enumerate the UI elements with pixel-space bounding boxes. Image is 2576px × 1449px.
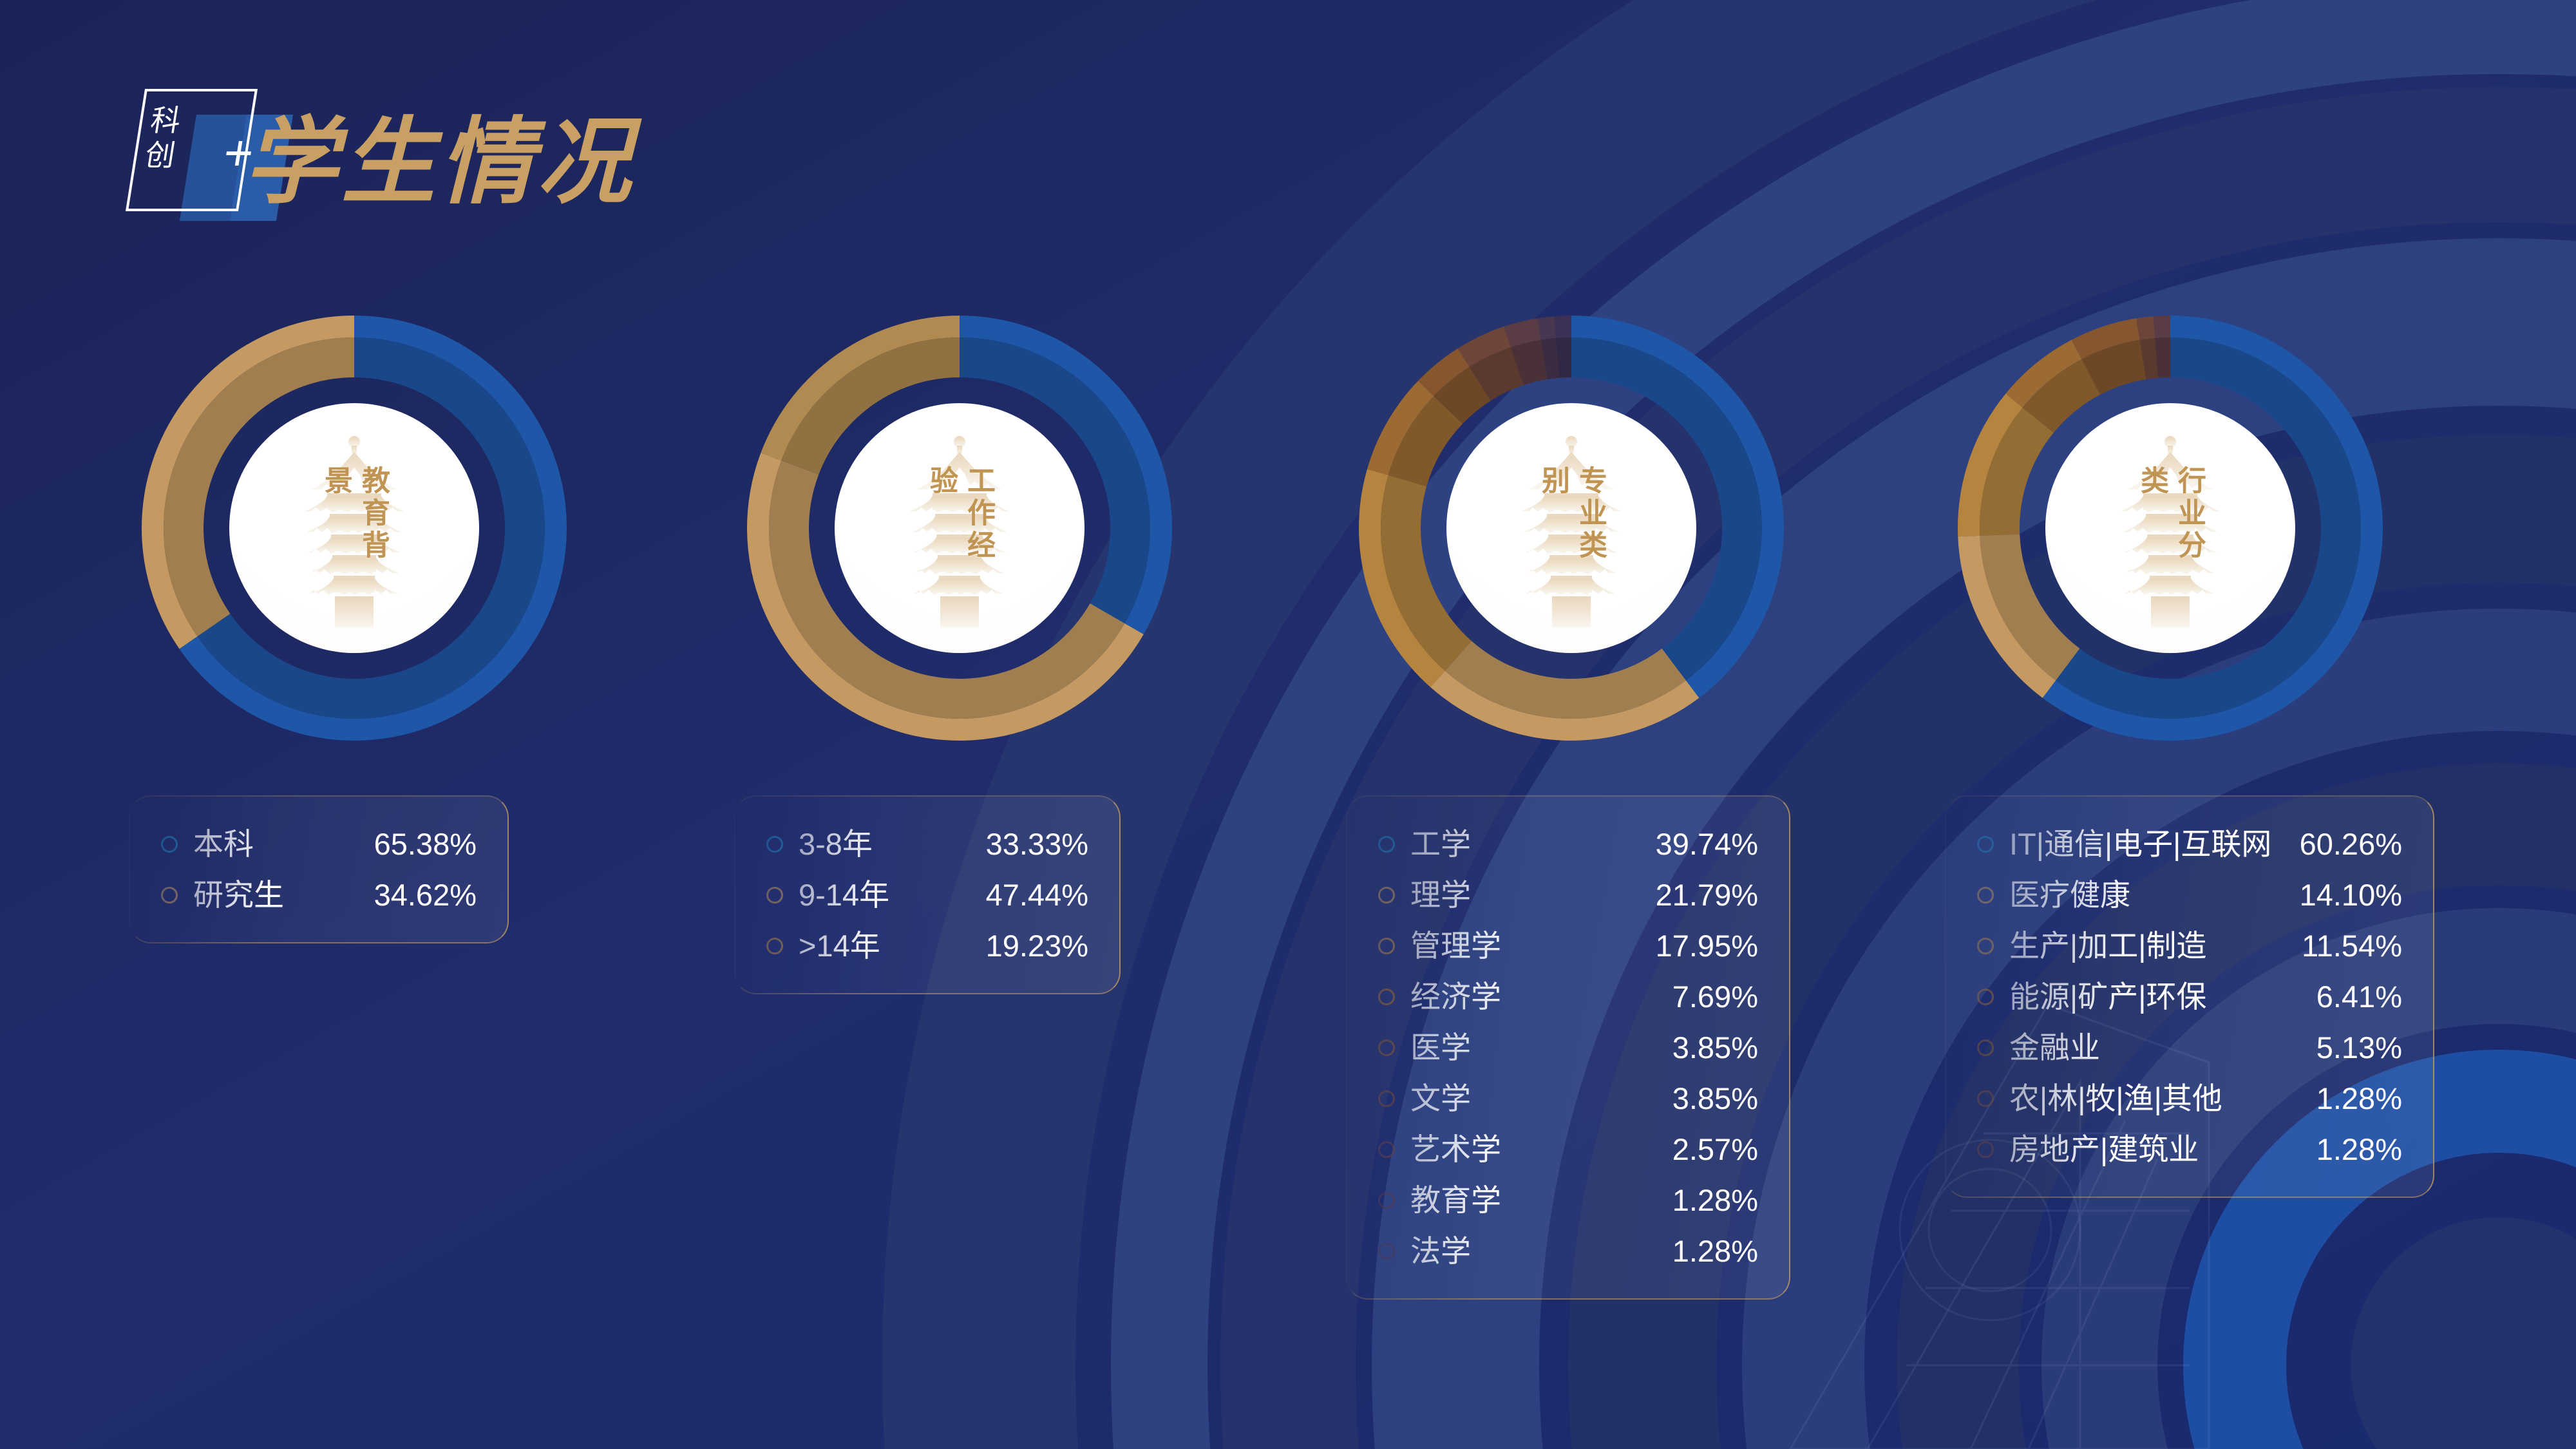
legend-row[interactable]: 房地产|建筑业1.28%: [1977, 1124, 2402, 1175]
legend-value: 34.62%: [374, 878, 477, 912]
legend-row[interactable]: >14年19.23%: [766, 920, 1088, 971]
legend-marker-circle-icon: [766, 938, 783, 954]
legend-marker-circle-icon: [1378, 1039, 1395, 1056]
chart-column-3: 专业类别: [1346, 303, 1797, 753]
legend-row[interactable]: 研究生34.62%: [161, 869, 477, 920]
donut-center-label-1: 教育背景: [317, 466, 392, 591]
legend-value: 47.44%: [986, 878, 1088, 912]
legend-marker-circle-icon: [1977, 1039, 1994, 1056]
legend-row[interactable]: 艺术学2.57%: [1378, 1124, 1758, 1175]
legend-marker-circle-icon: [1378, 887, 1395, 904]
donut-center-2: 工作经验: [835, 403, 1084, 653]
legend-marker-circle-icon: [1977, 1141, 1994, 1158]
legend-label: 经济学: [1410, 980, 1501, 1014]
chart-column-2: 工作经验: [734, 303, 1185, 753]
donut-chart-1[interactable]: 教育背景: [129, 303, 580, 753]
slide-root: 科 创 + 学生情况 教育背景本科65.38%研究生34.62%: [0, 0, 2576, 1449]
legend-row[interactable]: IT|通信|电子|互联网60.26%: [1977, 819, 2402, 869]
legend-marker-circle-icon: [766, 887, 783, 904]
legend-marker-circle-icon: [1977, 938, 1994, 954]
chart-column-4: 行业分类: [1945, 303, 2396, 753]
legend-value: 1.28%: [2316, 1133, 2402, 1166]
legend-label: 法学: [1410, 1235, 1471, 1268]
legend-card-3: 工学39.74%理学21.79%管理学17.95%经济学7.69%医学3.85%…: [1346, 795, 1790, 1300]
legend-value: 5.13%: [2316, 1031, 2402, 1065]
legend-value: 1.28%: [1672, 1184, 1758, 1217]
legend-label: 9-14年: [799, 878, 889, 912]
legend-value: 3.85%: [1672, 1031, 1758, 1065]
legend-label: 工学: [1410, 828, 1471, 861]
legend-row[interactable]: 医学3.85%: [1378, 1022, 1758, 1073]
legend-row[interactable]: 生产|加工|制造11.54%: [1977, 920, 2402, 971]
legend-marker-circle-icon: [1378, 938, 1395, 954]
legend-value: 11.54%: [2302, 929, 2402, 963]
legend-marker-circle-icon: [1378, 836, 1395, 853]
donut-center-label-4: 行业分类: [2133, 466, 2208, 591]
legend-value: 17.95%: [1656, 929, 1758, 963]
legend-label: 3-8年: [799, 828, 873, 861]
legend-label: 生产|加工|制造: [2009, 929, 2206, 963]
legend-value: 65.38%: [374, 828, 477, 861]
donut-outer-segment[interactable]: [1554, 316, 1571, 338]
legend-value: 1.28%: [1672, 1235, 1758, 1268]
legend-row[interactable]: 本科65.38%: [161, 819, 477, 869]
legend-label: 医学: [1410, 1031, 1471, 1065]
legend-marker-circle-icon: [766, 836, 783, 853]
legend-row[interactable]: 经济学7.69%: [1378, 971, 1758, 1022]
donut-center-4: 行业分类: [2045, 403, 2295, 653]
legend-label: IT|通信|电子|互联网: [2009, 828, 2271, 861]
legend-value: 39.74%: [1656, 828, 1758, 861]
legend-value: 21.79%: [1656, 878, 1758, 912]
legend-label: 医疗健康: [2009, 878, 2130, 912]
legend-marker-circle-icon: [161, 887, 178, 904]
legend-row[interactable]: 金融业5.13%: [1977, 1022, 2402, 1073]
legend-label: 文学: [1410, 1082, 1471, 1115]
legend-value: 6.41%: [2316, 980, 2402, 1014]
legend-value: 33.33%: [986, 828, 1088, 861]
legend-label: 教育学: [1410, 1184, 1501, 1217]
charts-container: 教育背景本科65.38%研究生34.62% 工作经验3-8年33.33%9-14…: [0, 0, 2576, 1449]
legend-label: 管理学: [1410, 929, 1501, 963]
donut-chart-2[interactable]: 工作经验: [734, 303, 1185, 753]
legend-row[interactable]: 医疗健康14.10%: [1977, 869, 2402, 920]
legend-value: 3.85%: [1672, 1082, 1758, 1115]
legend-card-4: IT|通信|电子|互联网60.26%医疗健康14.10%生产|加工|制造11.5…: [1945, 795, 2434, 1198]
legend-row[interactable]: 农|林|牧|渔|其他1.28%: [1977, 1073, 2402, 1124]
legend-row[interactable]: 法学1.28%: [1378, 1226, 1758, 1276]
legend-value: 2.57%: [1672, 1133, 1758, 1166]
chart-column-1: 教育背景: [129, 303, 580, 753]
legend-label: 艺术学: [1410, 1133, 1501, 1166]
legend-label: 房地产|建筑业: [2009, 1133, 2199, 1166]
donut-center-label-3: 专业类别: [1534, 466, 1609, 591]
legend-card-1: 本科65.38%研究生34.62%: [129, 795, 509, 943]
legend-marker-circle-icon: [1378, 989, 1395, 1005]
donut-chart-3[interactable]: 专业类别: [1346, 303, 1797, 753]
legend-row[interactable]: 教育学1.28%: [1378, 1175, 1758, 1226]
legend-row[interactable]: 理学21.79%: [1378, 869, 1758, 920]
legend-row[interactable]: 能源|矿产|环保6.41%: [1977, 971, 2402, 1022]
legend-marker-circle-icon: [1977, 887, 1994, 904]
legend-row[interactable]: 管理学17.95%: [1378, 920, 1758, 971]
legend-marker-circle-icon: [1378, 1192, 1395, 1209]
legend-card-2: 3-8年33.33%9-14年47.44%>14年19.23%: [734, 795, 1121, 994]
legend-label: 研究生: [193, 878, 284, 912]
donut-chart-4[interactable]: 行业分类: [1945, 303, 2396, 753]
donut-outer-segment[interactable]: [2153, 316, 2170, 338]
legend-label: 能源|矿产|环保: [2009, 980, 2206, 1014]
legend-value: 7.69%: [1672, 980, 1758, 1014]
legend-value: 19.23%: [986, 929, 1088, 963]
legend-row[interactable]: 9-14年47.44%: [766, 869, 1088, 920]
legend-label: 理学: [1410, 878, 1471, 912]
donut-center-3: 专业类别: [1446, 403, 1696, 653]
legend-row[interactable]: 文学3.85%: [1378, 1073, 1758, 1124]
donut-center-1: 教育背景: [229, 403, 479, 653]
legend-marker-circle-icon: [1378, 1141, 1395, 1158]
legend-marker-circle-icon: [161, 836, 178, 853]
legend-row[interactable]: 工学39.74%: [1378, 819, 1758, 869]
legend-label: 本科: [193, 828, 254, 861]
legend-marker-circle-icon: [1378, 1090, 1395, 1107]
legend-label: >14年: [799, 929, 880, 963]
legend-label: 金融业: [2009, 1031, 2100, 1065]
donut-center-label-2: 工作经验: [922, 466, 997, 591]
legend-marker-circle-icon: [1977, 836, 1994, 853]
legend-value: 14.10%: [2300, 878, 2402, 912]
legend-value: 60.26%: [2300, 828, 2402, 861]
legend-row[interactable]: 3-8年33.33%: [766, 819, 1088, 869]
legend-marker-circle-icon: [1378, 1243, 1395, 1260]
legend-label: 农|林|牧|渔|其他: [2009, 1082, 2222, 1115]
legend-value: 1.28%: [2316, 1082, 2402, 1115]
legend-marker-circle-icon: [1977, 1090, 1994, 1107]
legend-marker-circle-icon: [1977, 989, 1994, 1005]
